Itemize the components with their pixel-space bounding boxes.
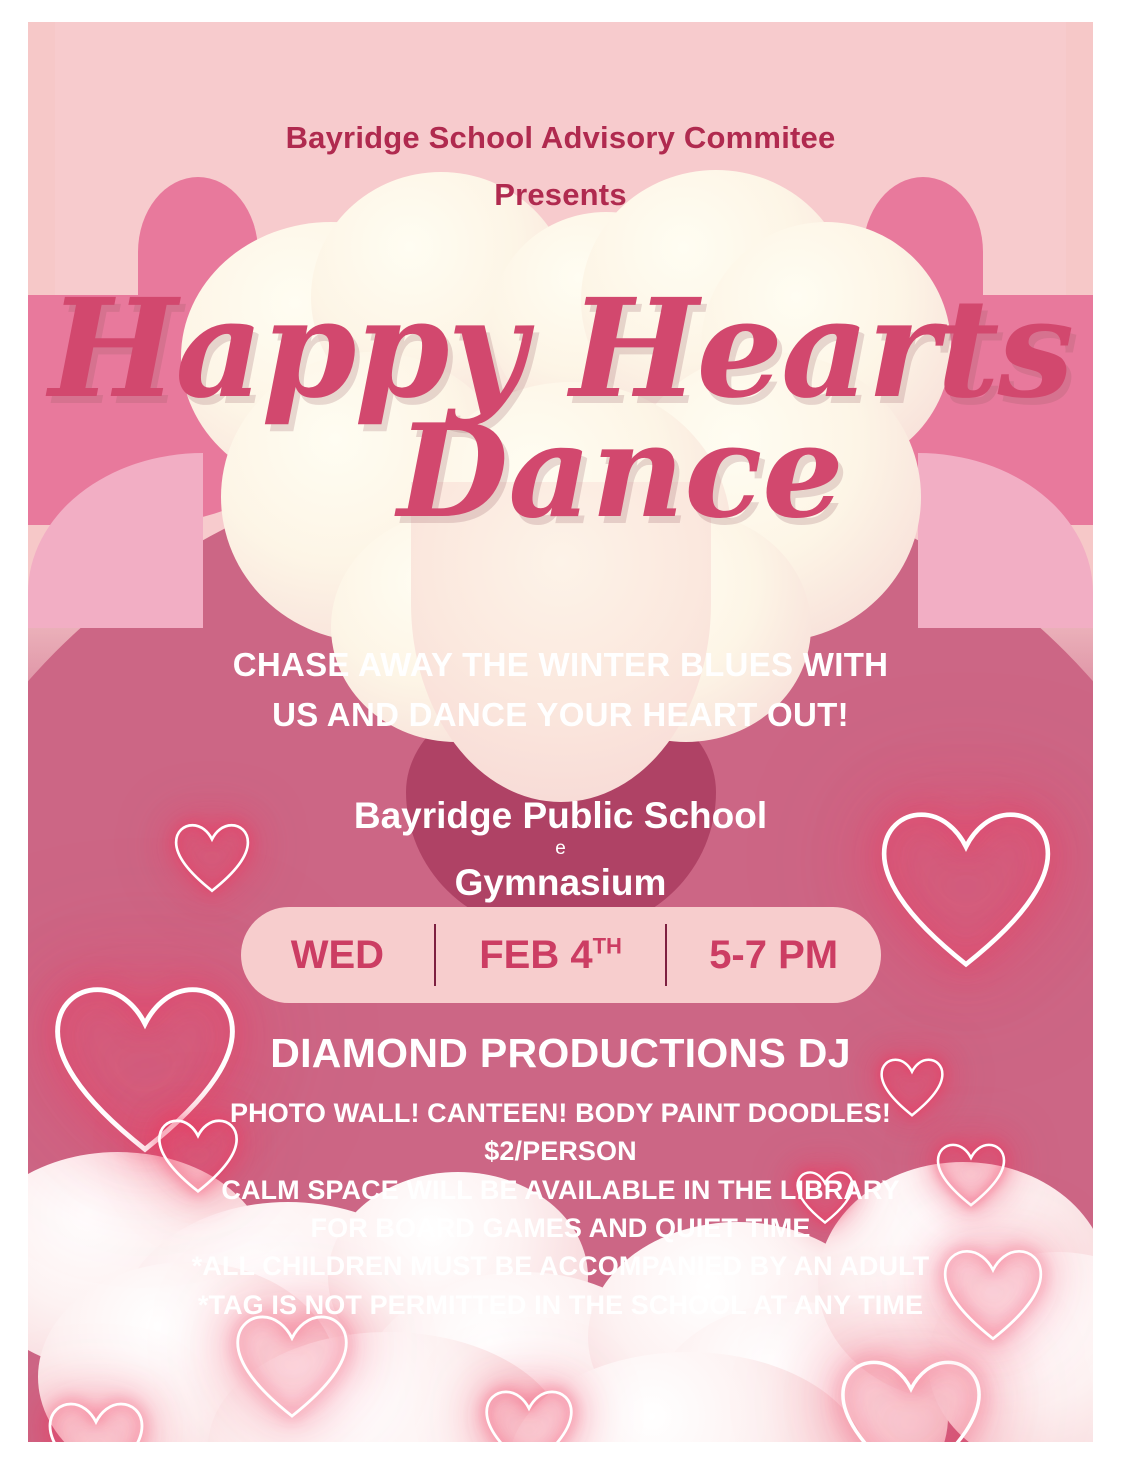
event-date-bar: WED FEB 4TH 5-7 PM <box>241 907 881 1003</box>
poster-title: Happy Hearts Dance <box>28 290 1093 528</box>
detail-line: CALM SPACE WILL BE AVAILABLE IN THE LIBR… <box>28 1171 1093 1209</box>
detail-line: FOR BOARD GAMES AND QUIET TIME <box>28 1209 1093 1247</box>
detail-line: *TAG IS NOT PERMITTED IN THE SCHOOL AT A… <box>28 1286 1093 1324</box>
event-month-day: FEB 4 <box>479 933 592 977</box>
detail-line: $2/PERSON <box>28 1132 1093 1170</box>
event-day: WED <box>241 933 435 978</box>
title-line-1: Happy Hearts <box>28 290 1093 410</box>
poster-panel: Bayridge School Advisory Commitee Presen… <box>28 22 1093 1442</box>
event-date: FEB 4TH <box>436 933 665 978</box>
venue-room: Gymnasium <box>28 864 1093 901</box>
tagline-line-1: CHASE AWAY THE WINTER BLUES WITH <box>28 640 1093 690</box>
event-time: 5-7 PM <box>667 933 881 978</box>
dj-credit: DIAMOND PRODUCTIONS DJ <box>28 1030 1093 1077</box>
title-line-2: Dance <box>28 416 1093 529</box>
presenter-presents: Presents <box>28 177 1093 213</box>
venue-name: Bayridge Public School <box>354 795 767 836</box>
event-date-ordinal: TH <box>593 933 622 958</box>
detail-line: PHOTO WALL! CANTEEN! BODY PAINT DOODLES! <box>28 1094 1093 1132</box>
venue-block: Bayridge Public School e Gymnasium <box>28 797 1093 901</box>
poster-tagline: CHASE AWAY THE WINTER BLUES WITH US AND … <box>28 640 1093 739</box>
poster-content: Bayridge School Advisory Commitee Presen… <box>28 22 1093 1442</box>
presenter-header: Bayridge School Advisory Commitee Presen… <box>28 120 1093 213</box>
tagline-line-2: US AND DANCE YOUR HEART OUT! <box>28 690 1093 740</box>
presenter-organisation: Bayridge School Advisory Commitee <box>286 120 836 155</box>
venue-stray-character: e <box>28 837 1093 862</box>
detail-line: *ALL CHILDREN MUST BE ACCOMPANIED BY AN … <box>28 1247 1093 1285</box>
poster-root: Bayridge School Advisory Commitee Presen… <box>0 0 1121 1464</box>
event-details-list: PHOTO WALL! CANTEEN! BODY PAINT DOODLES!… <box>28 1094 1093 1324</box>
